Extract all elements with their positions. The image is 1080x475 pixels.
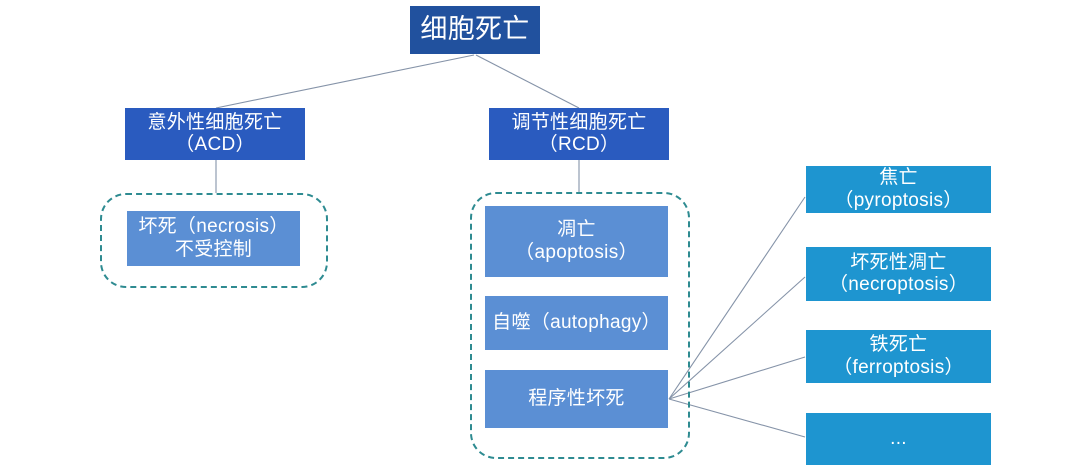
node-regulated-cell-death[interactable]: 调节性细胞死亡（RCD） xyxy=(489,108,669,160)
node-necrosis[interactable]: 坏死（necrosis）不受控制 xyxy=(127,211,300,266)
apoptosis-line-2: （apoptosis） xyxy=(515,242,638,264)
node-autophagy[interactable]: 自噬（autophagy） xyxy=(485,296,668,350)
necroptosis-line-2: （necroptosis） xyxy=(829,274,968,296)
others-line-1: ... xyxy=(890,428,907,450)
ferroptosis-line-2: （ferroptosis） xyxy=(833,357,964,379)
necrosis-line-1: 坏死（necrosis） xyxy=(138,216,288,238)
connector-root-to-acd xyxy=(216,55,474,108)
node-others[interactable]: ... xyxy=(806,413,991,465)
node-programmed-necrosis[interactable]: 程序性坏死 xyxy=(485,370,668,428)
node-ferroptosis[interactable]: 铁死亡（ferroptosis） xyxy=(806,330,991,383)
rcd-line-2: （RCD） xyxy=(539,134,620,156)
apoptosis-line-1: 凋亡 xyxy=(557,219,596,241)
necroptosis-line-1: 坏死性凋亡 xyxy=(850,252,947,274)
rcd-line-1: 调节性细胞死亡 xyxy=(511,112,646,134)
ferroptosis-line-1: 铁死亡 xyxy=(870,334,928,356)
diagram-canvas: 细胞死亡 意外性细胞死亡（ACD） 调节性细胞死亡（RCD） 坏死（necros… xyxy=(0,0,1080,475)
programmed-necrosis-line-1: 程序性坏死 xyxy=(528,388,625,410)
acd-line-1: 意外性细胞死亡 xyxy=(147,112,282,134)
pyroptosis-line-1: 焦亡 xyxy=(879,167,918,189)
necrosis-line-2: 不受控制 xyxy=(175,239,252,261)
cell-death-line-1: 细胞死亡 xyxy=(420,14,529,46)
node-accidental-cell-death[interactable]: 意外性细胞死亡（ACD） xyxy=(125,108,305,160)
pyroptosis-line-2: （pyroptosis） xyxy=(834,190,962,212)
node-pyroptosis[interactable]: 焦亡（pyroptosis） xyxy=(806,166,991,213)
node-cell-death[interactable]: 细胞死亡 xyxy=(410,6,540,54)
acd-line-2: （ACD） xyxy=(175,134,255,156)
node-necroptosis[interactable]: 坏死性凋亡（necroptosis） xyxy=(806,247,991,301)
autophagy-line-1: 自噬（autophagy） xyxy=(492,312,661,334)
connector-root-to-rcd xyxy=(476,55,579,108)
node-apoptosis[interactable]: 凋亡（apoptosis） xyxy=(485,206,668,277)
